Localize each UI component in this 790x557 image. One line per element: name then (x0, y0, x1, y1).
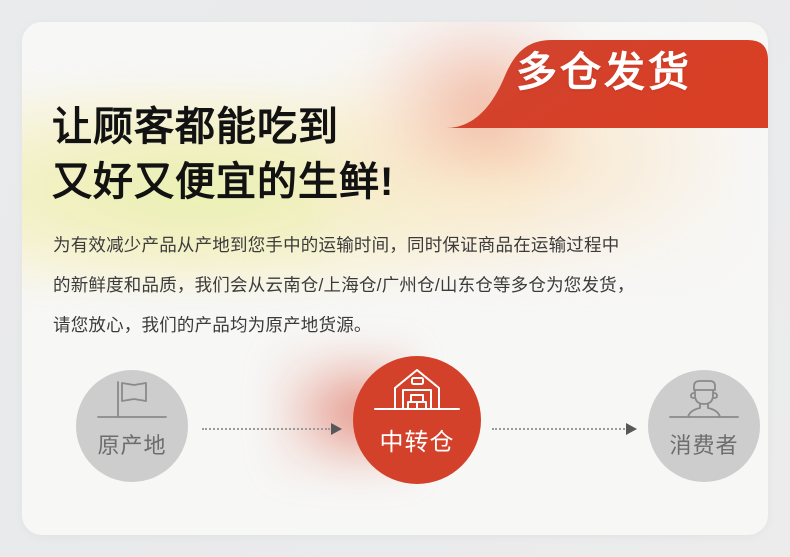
flow-node-hub-label: 中转仓 (380, 422, 455, 457)
warehouse-icon (367, 356, 467, 422)
flow-node-hub: 中转仓 (353, 356, 481, 484)
flow-node-consumer: 消费者 (648, 370, 760, 482)
arrow-head-icon (331, 423, 342, 435)
page-background: 多仓发货 让顾客都能吃到 又好又便宜的生鲜! 为有效减少产品从产地到您手中的运输… (0, 0, 790, 557)
multi-warehouse-banner: 多仓发货 (430, 22, 768, 128)
arrow-head-icon (626, 423, 637, 435)
banner-label: 多仓发货 (516, 48, 692, 96)
supply-chain-flow-diagram: 原产地 (22, 356, 768, 496)
promo-card: 多仓发货 让顾客都能吃到 又好又便宜的生鲜! 为有效减少产品从产地到您手中的运输… (22, 22, 768, 535)
paragraph-line-2: 的新鲜度和品质，我们会从云南仓/上海仓/广州仓/山东仓等多仓为您发货， (53, 265, 743, 305)
flow-node-origin: 原产地 (76, 370, 188, 482)
page-title: 让顾客都能吃到 又好又便宜的生鲜! (52, 100, 394, 210)
person-icon (660, 370, 748, 428)
flow-node-consumer-label: 消费者 (669, 428, 738, 460)
flow-arrow-origin-to-hub (202, 424, 342, 434)
flow-arrow-hub-to-consumer (492, 424, 637, 434)
person-icon-wrap (648, 370, 760, 428)
arrow-dashed-line (492, 428, 625, 430)
flow-node-origin-label: 原产地 (97, 428, 166, 460)
description-paragraph: 为有效减少产品从产地到您手中的运输时间，同时保证商品在运输过程中 的新鲜度和品质… (53, 225, 743, 345)
paragraph-line-1: 为有效减少产品从产地到您手中的运输时间，同时保证商品在运输过程中 (53, 225, 743, 265)
headline-line-2: 又好又便宜的生鲜! (52, 155, 394, 210)
warehouse-icon-wrap (353, 356, 481, 422)
flag-icon-wrap (76, 370, 188, 428)
paragraph-line-3: 请您放心，我们的产品均为原产地货源。 (53, 305, 743, 345)
arrow-dashed-line (202, 428, 330, 430)
flag-icon (88, 370, 176, 428)
headline-line-1: 让顾客都能吃到 (52, 100, 394, 155)
